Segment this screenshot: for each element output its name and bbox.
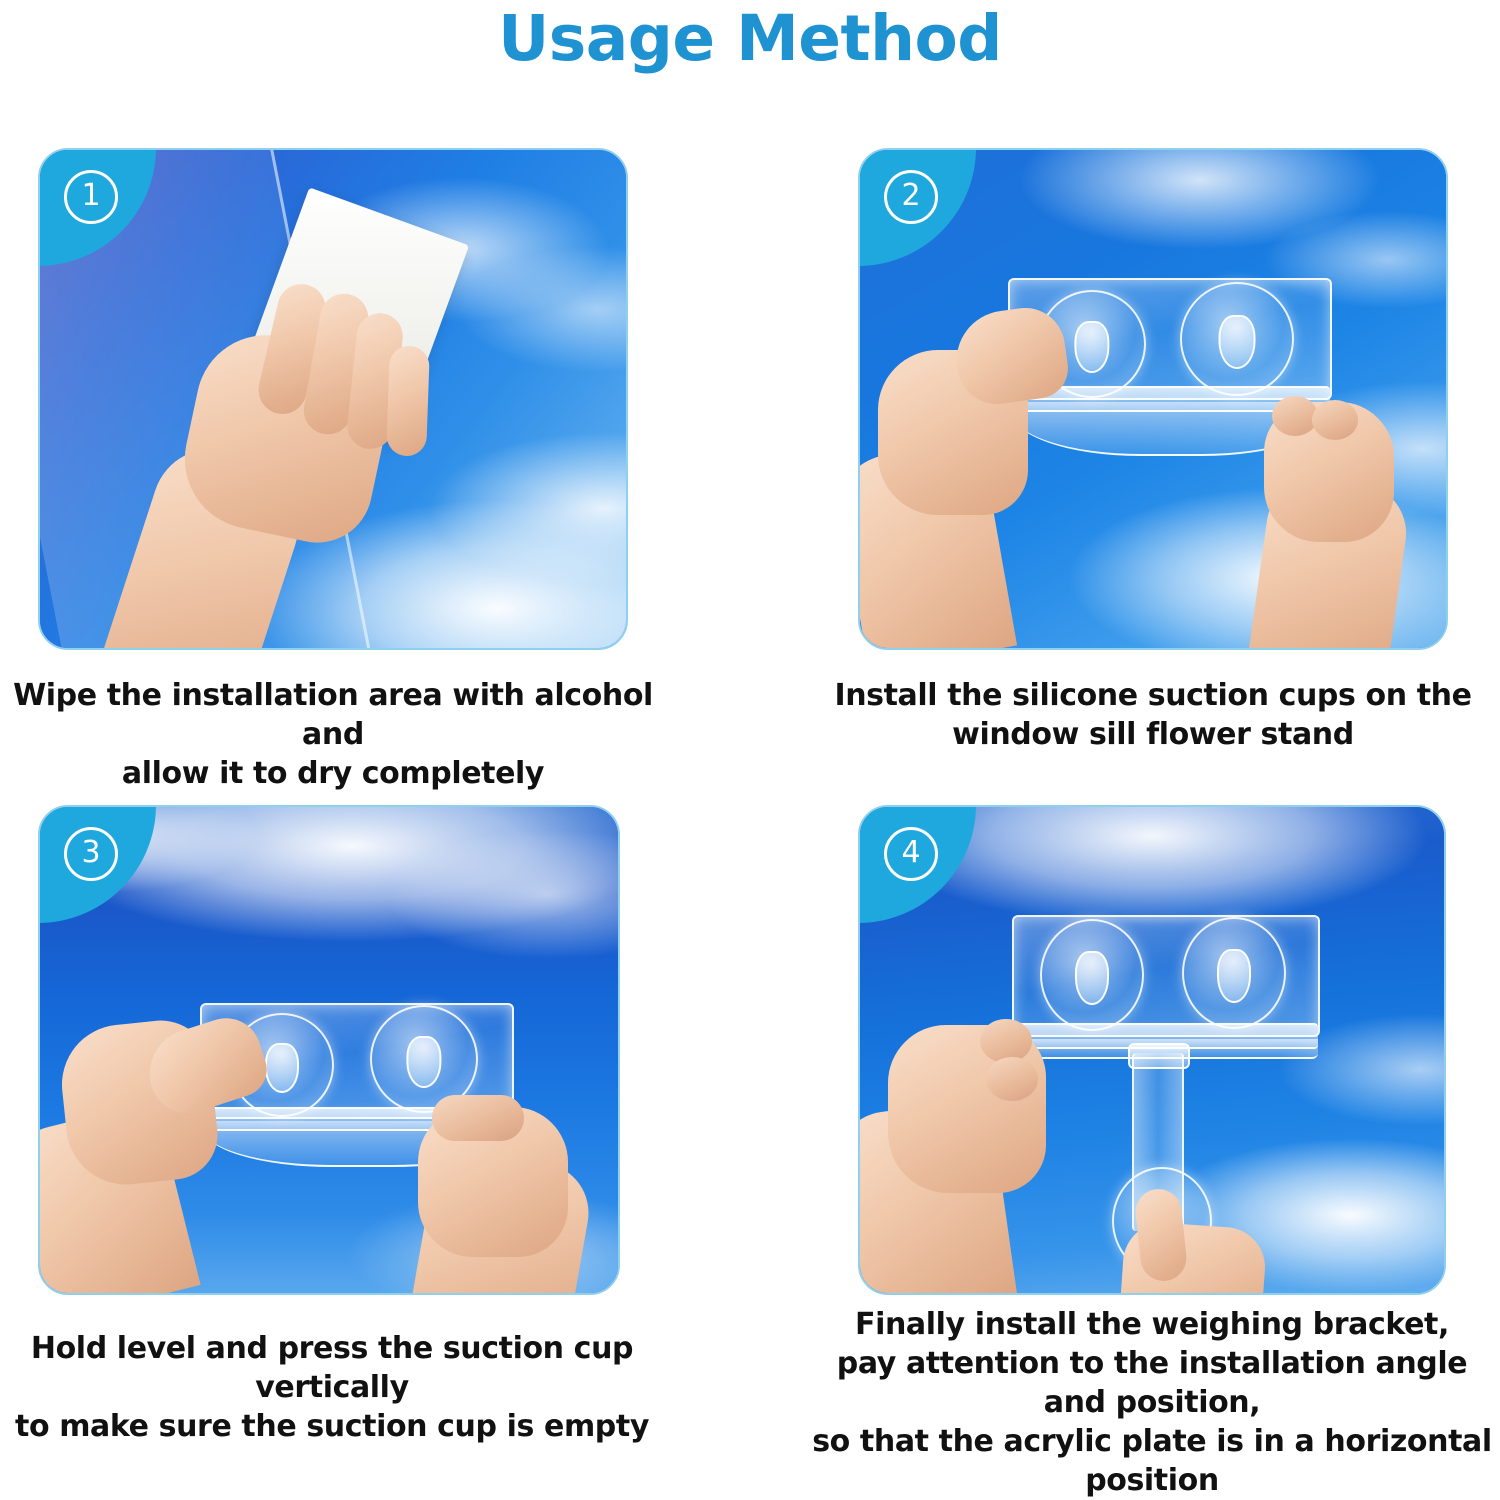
knuckle-b — [986, 1057, 1038, 1101]
caption-line: pay attention to the installation angle … — [802, 1344, 1500, 1422]
suction-cup-left — [1040, 919, 1144, 1031]
caption-line: Hold level and press the suction cup ver… — [2, 1329, 662, 1407]
caption-line: window sill flower stand — [828, 715, 1478, 754]
step-caption-4: Finally install the weighing bracket, pa… — [802, 1305, 1500, 1500]
suction-cup-right — [1182, 917, 1286, 1029]
step-caption-1: Wipe the installation area with alcohol … — [8, 676, 658, 793]
bracket-hinge — [1128, 1043, 1190, 1069]
thumb-right — [432, 1095, 524, 1141]
caption-line: Finally install the weighing bracket, — [802, 1305, 1500, 1344]
knuckle-a — [980, 1019, 1032, 1063]
step-image-3: 3 — [38, 805, 620, 1295]
knuckle-right-2 — [1312, 400, 1358, 440]
caption-line: so that the acrylic plate is in a horizo… — [802, 1422, 1500, 1500]
knuckle-right — [1272, 396, 1318, 436]
step-card-2: 2 Install the silicone suction cups on t… — [858, 148, 1448, 788]
step-image-4: 4 — [858, 805, 1446, 1295]
step-image-1: 1 — [38, 148, 628, 650]
step-number-4: 4 — [884, 827, 938, 881]
step-image-2: 2 — [858, 148, 1448, 650]
step-number-1: 1 — [64, 170, 118, 224]
scene-illustration-2 — [860, 150, 1446, 648]
suction-cup-right — [1180, 282, 1294, 396]
step-card-4: 4 Finally install the weighing bracket, … — [858, 805, 1446, 1447]
step-card-1: 1 Wipe the installation area with alcoho… — [38, 148, 628, 788]
finger-pinky — [386, 345, 430, 456]
caption-line: allow it to dry completely — [8, 754, 658, 793]
caption-line: to make sure the suction cup is empty — [2, 1407, 662, 1446]
step-card-3: 3 Hold level and press the suction cup v… — [38, 805, 620, 1447]
step-caption-2: Install the silicone suction cups on the… — [828, 676, 1478, 754]
caption-line: Wipe the installation area with alcohol … — [8, 676, 658, 754]
step-number-3: 3 — [64, 827, 118, 881]
step-number-2: 2 — [884, 170, 938, 224]
steps-grid: 1 Wipe the installation area with alcoho… — [0, 0, 1500, 1447]
step-caption-3: Hold level and press the suction cup ver… — [2, 1329, 662, 1446]
scene-illustration-1 — [40, 150, 626, 648]
caption-line: Install the silicone suction cups on the — [828, 676, 1478, 715]
